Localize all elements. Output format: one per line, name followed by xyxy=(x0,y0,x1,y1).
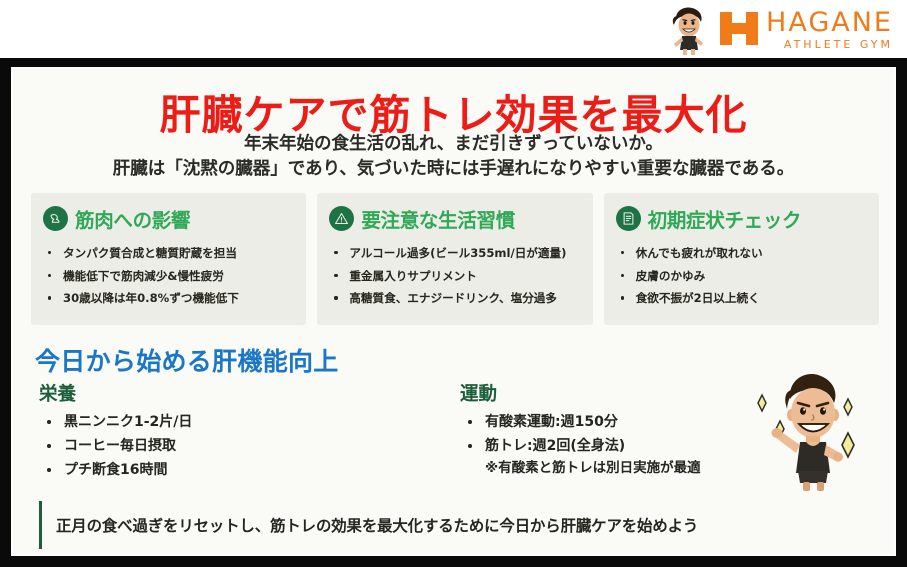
list-item: 30歳以降は年0.8%ずつ機能低下 xyxy=(43,287,294,310)
action-column-exercise: 運動 有酸素運動:週150分 筋トレ:週2回(全身法) ※有酸素と筋トレは別日実… xyxy=(460,380,760,480)
list-item: 黒ニンニク1-2片/日 xyxy=(39,410,439,434)
card-bullet-list: タンパク質合成と糖質貯蔵を担当 機能低下で筋肉減少&慢性疲労 30歳以降は年0.… xyxy=(43,242,294,310)
footer-callout: 正月の食べ過ぎをリセットし、筋トレの効果を最大化するために今日から肝臓ケアを始め… xyxy=(39,501,868,549)
column-note: ※有酸素と筋トレは別日実施が最適 xyxy=(460,458,760,480)
brand-header: HAGANE ATHLETE GYM xyxy=(0,0,907,58)
column-heading: 栄養 xyxy=(39,380,439,406)
slide-frame: 肝臓ケアで筋トレ効果を最大化 年末年始の食生活の乱れ、まだ引きずっていないか。 … xyxy=(0,58,907,567)
clipboard-checklist-icon xyxy=(616,206,641,231)
list-item: 食欲不振が2日以上続く xyxy=(616,287,867,310)
card-title: 初期症状チェック xyxy=(648,204,802,233)
brand-logo: HAGANE ATHLETE GYM xyxy=(662,2,893,56)
lead-line-1: 年末年始の食生活の乱れ、まだ引きずっていないか。 xyxy=(13,132,894,157)
card-bullet-list: 休んでも疲れが取れない 皮膚のかゆみ 食欲不振が2日以上続く xyxy=(616,242,867,310)
section-title-action-plan: 今日から始める肝機能向上 xyxy=(35,342,339,378)
lead-line-2: 肝臓は「沈黙の臓器」であり、気づいた時には手遅れになりやすい重要な臓器である。 xyxy=(13,157,894,182)
footer-callout-text: 正月の食べ過ぎをリセットし、筋トレの効果を最大化するために今日から肝臓ケアを始め… xyxy=(42,514,698,536)
warning-triangle-icon xyxy=(329,206,354,231)
info-card-muscle-impact: 筋肉への影響 タンパク質合成と糖質貯蔵を担当 機能低下で筋肉減少&慢性疲労 30… xyxy=(31,193,306,325)
list-item: 重金属入りサプリメント xyxy=(329,265,580,288)
info-card-early-symptoms: 初期症状チェック 休んでも疲れが取れない 皮膚のかゆみ 食欲不振が2日以上続く xyxy=(604,193,879,325)
infographic-slide: HAGANE ATHLETE GYM 肝臓ケアで筋トレ効果を最大化 年末年始の食… xyxy=(0,0,907,567)
card-header: 初期症状チェック xyxy=(616,204,867,233)
list-item: 有酸素運動:週150分 xyxy=(460,410,760,434)
slide-canvas: 肝臓ケアで筋トレ効果を最大化 年末年始の食生活の乱れ、まだ引きずっていないか。 … xyxy=(13,69,894,554)
info-card-risky-habits: 要注意な生活習慣 アルコール過多(ビール355ml/日が適量) 重金属入りサプリ… xyxy=(317,193,592,325)
card-header: 筋肉への影響 xyxy=(43,204,294,233)
card-bullet-list: アルコール過多(ビール355ml/日が適量) 重金属入りサプリメント 高糖質食、… xyxy=(329,242,580,310)
info-card-row: 筋肉への影響 タンパク質合成と糖質貯蔵を担当 機能低下で筋肉減少&慢性疲労 30… xyxy=(31,193,879,325)
list-item: 機能低下で筋肉減少&慢性疲労 xyxy=(43,265,294,288)
list-item: タンパク質合成と糖質貯蔵を担当 xyxy=(43,242,294,265)
card-header: 要注意な生活習慣 xyxy=(329,204,580,233)
slide-frame-inner: 肝臓ケアで筋トレ効果を最大化 年末年始の食生活の乱れ、まだ引きずっていないか。 … xyxy=(11,67,896,556)
list-item: コーヒー毎日摂取 xyxy=(39,434,439,458)
card-title: 要注意な生活習慣 xyxy=(361,204,515,233)
card-title: 筋肉への影響 xyxy=(75,204,190,233)
brand-name: HAGANE xyxy=(766,9,893,36)
flexed-bicep-icon xyxy=(43,206,68,231)
list-item: 筋トレ:週2回(全身法) xyxy=(460,434,760,458)
brand-wordmark: HAGANE ATHLETE GYM xyxy=(766,9,893,50)
action-column-nutrition: 栄養 黒ニンニク1-2片/日 コーヒー毎日摂取 プチ断食16時間 xyxy=(39,380,439,482)
list-item: 高糖質食、エナジードリンク、塩分過多 xyxy=(329,287,580,310)
column-bullet-list: 有酸素運動:週150分 筋トレ:週2回(全身法) xyxy=(460,410,760,458)
lead-paragraph: 年末年始の食生活の乱れ、まだ引きずっていないか。 肝臓は「沈黙の臓器」であり、気… xyxy=(13,132,894,183)
list-item: 休んでも疲れが取れない xyxy=(616,242,867,265)
list-item: アルコール過多(ビール355ml/日が適量) xyxy=(329,242,580,265)
brand-tagline: ATHLETE GYM xyxy=(766,39,893,50)
list-item: プチ断食16時間 xyxy=(39,458,439,482)
gym-trainer-mascot-icon xyxy=(746,369,876,491)
column-bullet-list: 黒ニンニク1-2片/日 コーヒー毎日摂取 プチ断食16時間 xyxy=(39,410,439,482)
list-item: 皮膚のかゆみ xyxy=(616,265,867,288)
column-heading: 運動 xyxy=(460,380,760,406)
h-block-logo-icon xyxy=(720,12,760,46)
gym-trainer-mascot-icon xyxy=(662,3,714,55)
